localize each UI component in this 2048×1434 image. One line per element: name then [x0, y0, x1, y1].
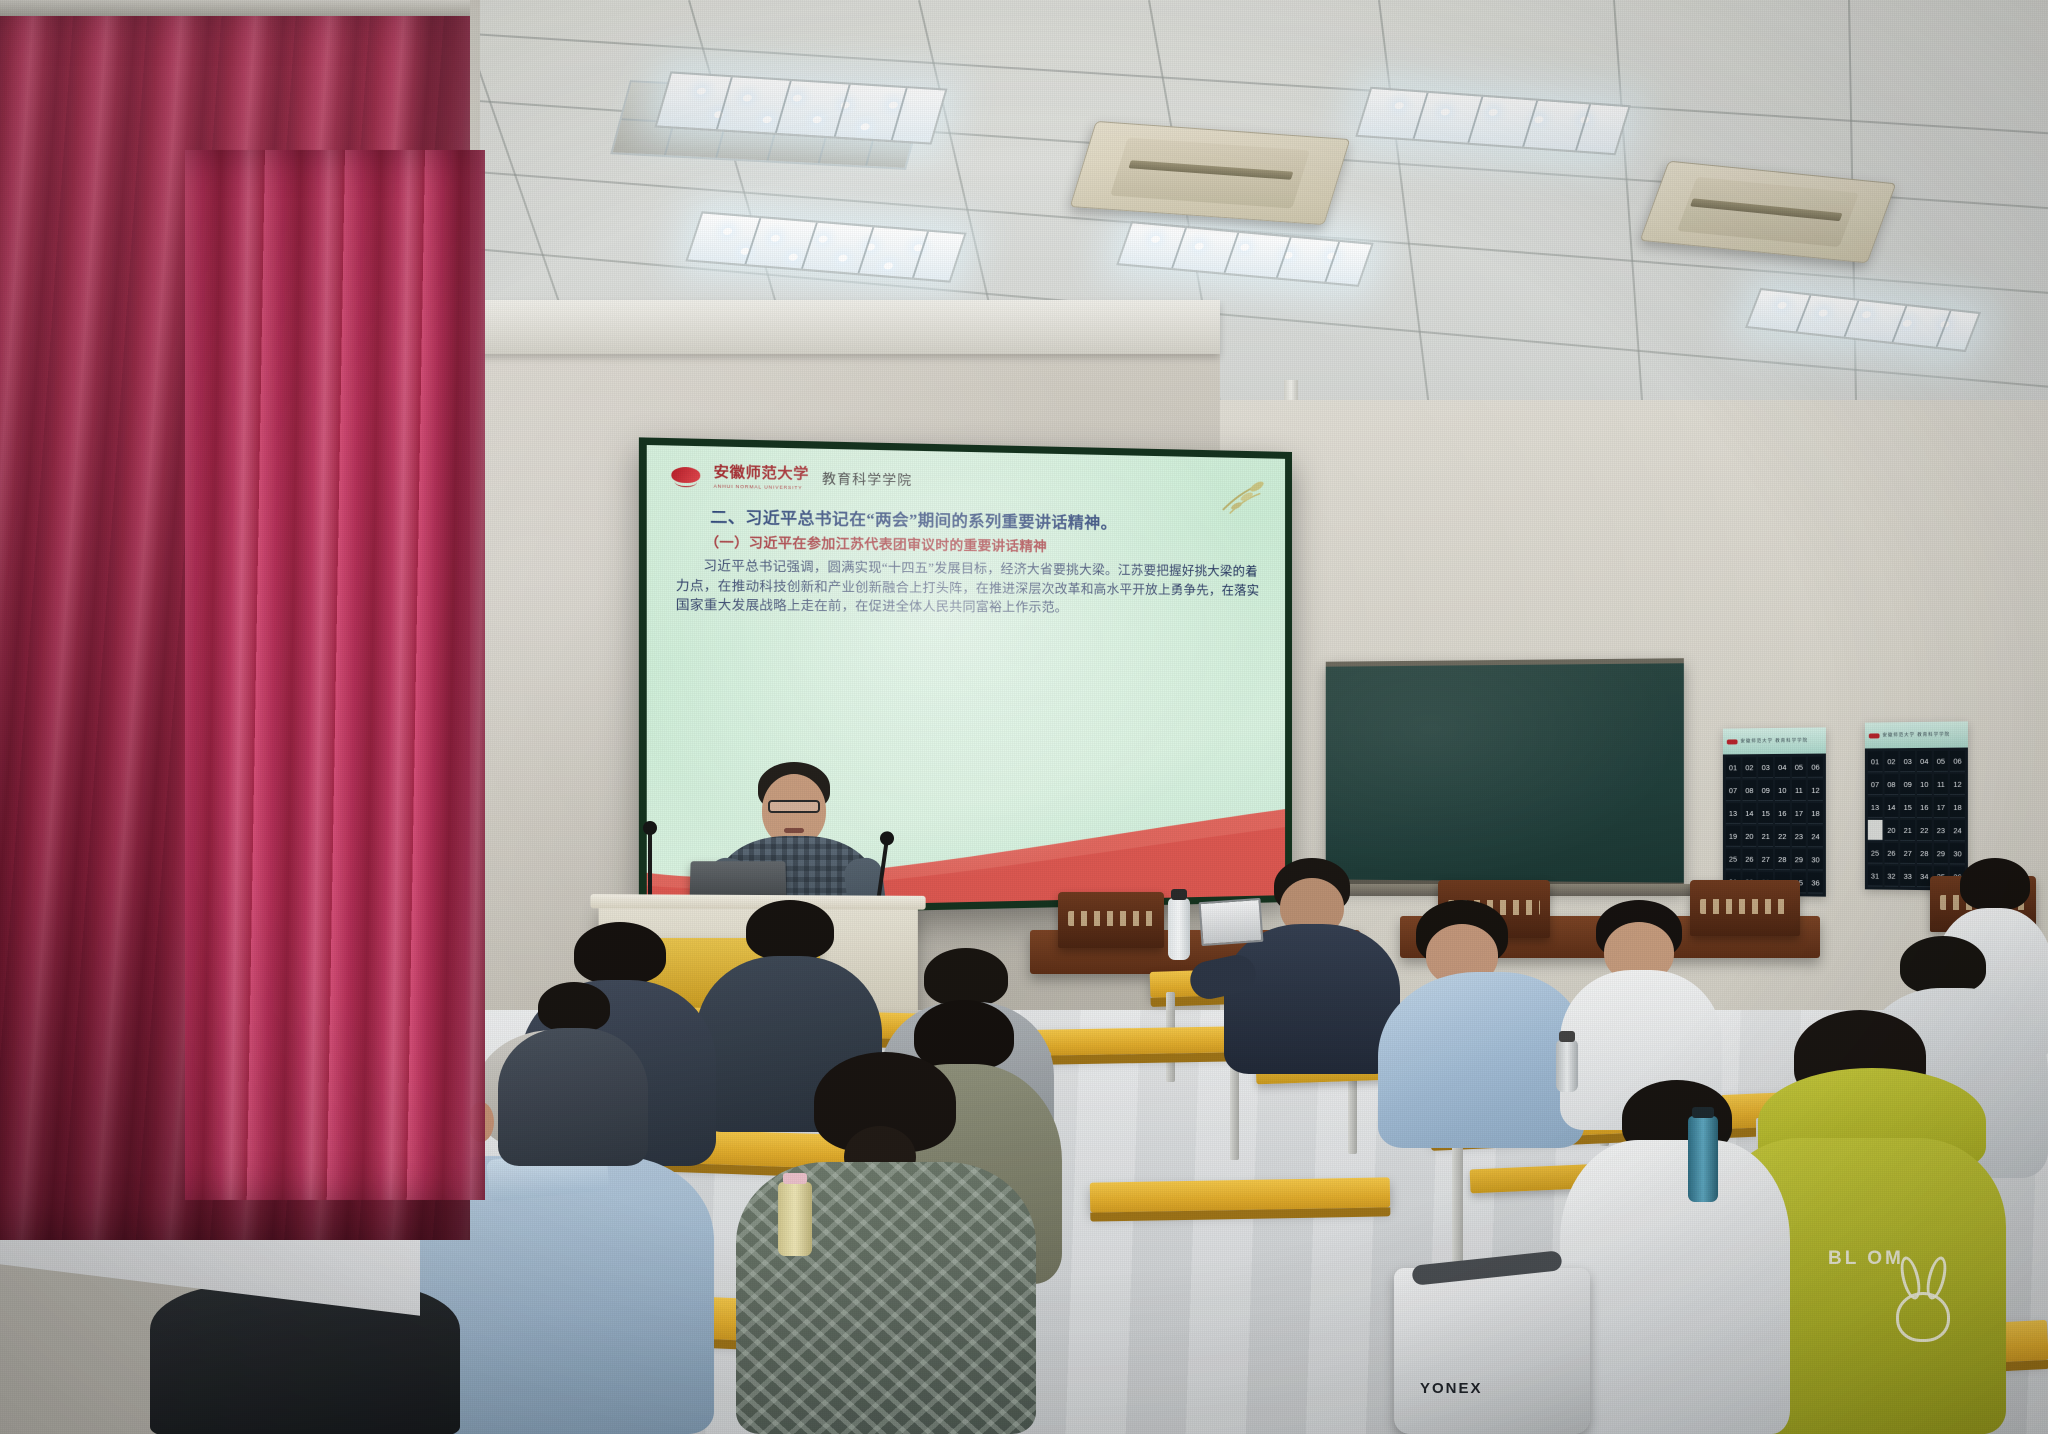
pocket-slot-25: 25	[1868, 843, 1882, 864]
pocket-slot-22: 22	[1775, 826, 1790, 847]
badminton-bag: YONEX	[1394, 1268, 1590, 1434]
microphone-head-icon	[643, 821, 657, 835]
pocket-chart-title-1: 安徽师范大学 教育科学学院	[1741, 738, 1809, 745]
university-logo-icon	[671, 466, 700, 482]
pocket-slot-30: 30	[1808, 849, 1823, 870]
wall-soffit	[360, 300, 1220, 354]
curtain-rail	[0, 0, 470, 16]
pocket-slot-10: 10	[1775, 780, 1790, 801]
pocket-slot-16: 16	[1917, 797, 1932, 818]
jacket	[498, 1028, 648, 1166]
slide-paragraph: 习近平总书记强调，圆满实现“十四五”发展目标，经济大省要挑大梁。江苏要把握好挑大…	[676, 556, 1263, 619]
pocket-slot-02: 02	[1884, 751, 1898, 772]
hair	[574, 922, 666, 984]
pocket-slot-17: 17	[1792, 803, 1807, 824]
pocket-slot-01: 01	[1726, 757, 1740, 778]
pocket-slot-24: 24	[1808, 826, 1823, 847]
university-name-en: ANHUI NORMAL UNIVERSITY	[714, 483, 809, 490]
pocket-chart-header: 安徽师范大学 教育科学学院	[1865, 721, 1968, 748]
pocket-slot-06: 06	[1808, 757, 1823, 778]
pocket-chart-grid-1: 0102030405060708091011121314151617181920…	[1723, 754, 1826, 897]
attendee-far-left-back	[498, 982, 648, 1162]
hair	[538, 982, 610, 1032]
pocket-slot-13: 13	[1726, 803, 1740, 824]
pocket-slot-21: 21	[1901, 820, 1915, 841]
pocket-slot-25: 25	[1726, 849, 1740, 870]
desk-l3	[1090, 1177, 1390, 1212]
presenter-glasses-icon	[768, 800, 820, 813]
pocket-slot-05: 05	[1934, 751, 1949, 772]
pocket-slot-12: 12	[1808, 780, 1823, 801]
water-bottle-4	[778, 1182, 812, 1256]
pocket-slot-26: 26	[1884, 843, 1898, 864]
pocket-slot-27: 27	[1901, 843, 1915, 864]
pocket-slot-36: 36	[1808, 872, 1823, 893]
bag-brand-text: YONEX	[1420, 1380, 1483, 1397]
bunny-graphic-icon	[1896, 1292, 1950, 1342]
pocket-slot-10: 10	[1917, 774, 1932, 795]
air-conditioner-unit-1	[1070, 121, 1351, 225]
pocket-chart-logo-icon	[1727, 739, 1738, 744]
pocket-slot-21: 21	[1759, 826, 1773, 847]
wood-chair-1	[1058, 892, 1164, 948]
pocket-slot-04: 04	[1917, 751, 1932, 772]
pocket-slot-06: 06	[1950, 751, 1965, 772]
pocket-slot-09: 09	[1901, 774, 1915, 795]
pocket-slot-09: 09	[1759, 780, 1773, 801]
pocket-slot-19: 19	[1726, 826, 1740, 847]
pocket-slot-23: 23	[1792, 826, 1807, 847]
pocket-slot-08: 08	[1742, 780, 1756, 801]
slide-body: 二、习近平总书记在“两会”期间的系列重要讲话精神。 （一）习近平在参加江苏代表团…	[676, 505, 1263, 619]
hair	[1960, 858, 2030, 910]
university-name-cn: 安徽师范大学	[714, 461, 809, 484]
pocket-slot-18: 18	[1808, 803, 1823, 824]
pocket-slot-11: 11	[1934, 774, 1949, 795]
pocket-slot-12: 12	[1950, 774, 1965, 795]
hoodie-text: BL OM	[1828, 1248, 1904, 1270]
department-name: 教育科学学院	[822, 467, 912, 489]
pocket-slot-07: 07	[1868, 774, 1882, 795]
pocket-chart-header: 安徽师范大学 教育科学学院	[1723, 727, 1826, 754]
pocket-slot-08: 08	[1884, 774, 1898, 795]
pocket-slot-17: 17	[1934, 797, 1949, 818]
water-bottle-1	[1168, 898, 1190, 960]
pocket-slot-31: 31	[1868, 866, 1882, 887]
hair	[746, 900, 834, 960]
pocket-slot-27: 27	[1759, 849, 1773, 870]
water-bottle-2	[1688, 1116, 1718, 1202]
pocket-slot-32: 32	[1884, 866, 1898, 887]
pocket-slot-04: 04	[1775, 757, 1790, 778]
attendee-front-white	[1560, 1080, 1790, 1434]
pocket-chart-logo-icon	[1869, 733, 1880, 738]
presenter-mouth	[784, 828, 804, 833]
pocket-slot-28: 28	[1917, 843, 1932, 864]
pocket-slot-28: 28	[1775, 849, 1790, 870]
desk-leg	[1452, 1132, 1463, 1262]
pocket-slot-20: 20	[1742, 826, 1756, 847]
pocket-slot-26: 26	[1742, 849, 1756, 870]
pocket-slot-14: 14	[1884, 797, 1898, 818]
pocket-slot-18: 18	[1950, 797, 1965, 818]
pocket-slot-05: 05	[1792, 757, 1807, 778]
laptop-attendee[interactable]	[1199, 898, 1264, 946]
pocket-slot-16: 16	[1775, 803, 1790, 824]
slide-header: 安徽师范大学 ANHUI NORMAL UNIVERSITY 教育科学学院	[671, 460, 912, 492]
pocket-slot-29: 29	[1792, 849, 1807, 870]
pocket-slot-23: 23	[1934, 820, 1949, 841]
hair	[1900, 936, 1986, 994]
pocket-slot-22: 22	[1917, 820, 1932, 841]
pocket-slot-13: 13	[1868, 797, 1882, 818]
light-blue-shirt	[1378, 972, 1584, 1148]
pocket-slot-20: 20	[1884, 820, 1898, 841]
pocket-slot-33: 33	[1901, 866, 1915, 887]
pocket-slot-19	[1868, 820, 1882, 841]
pocket-slot-24: 24	[1950, 820, 1965, 841]
pocket-slot-02: 02	[1742, 757, 1756, 778]
hair	[924, 948, 1008, 1006]
pocket-slot-14: 14	[1742, 803, 1756, 824]
phone-pocket-chart-1: 安徽师范大学 教育科学学院 01020304050607080910111213…	[1723, 727, 1826, 896]
pocket-chart-title-2: 安徽师范大学 教育科学学院	[1883, 732, 1951, 739]
pocket-slot-03: 03	[1759, 757, 1773, 778]
blackboard	[1326, 658, 1684, 890]
pocket-slot-11: 11	[1792, 780, 1807, 801]
classroom-photo: 安徽师范大学 ANHUI NORMAL UNIVERSITY 教育科学学院 二、…	[0, 0, 2048, 1434]
white-jacket	[1560, 1140, 1790, 1434]
window-curtain-right[interactable]	[185, 150, 485, 1200]
pocket-slot-01: 01	[1868, 751, 1882, 772]
pocket-slot-07: 07	[1726, 780, 1740, 801]
pocket-slot-15: 15	[1901, 797, 1915, 818]
pocket-slot-03: 03	[1901, 751, 1915, 772]
water-bottle-3	[1556, 1040, 1578, 1092]
pocket-slot-15: 15	[1759, 803, 1773, 824]
